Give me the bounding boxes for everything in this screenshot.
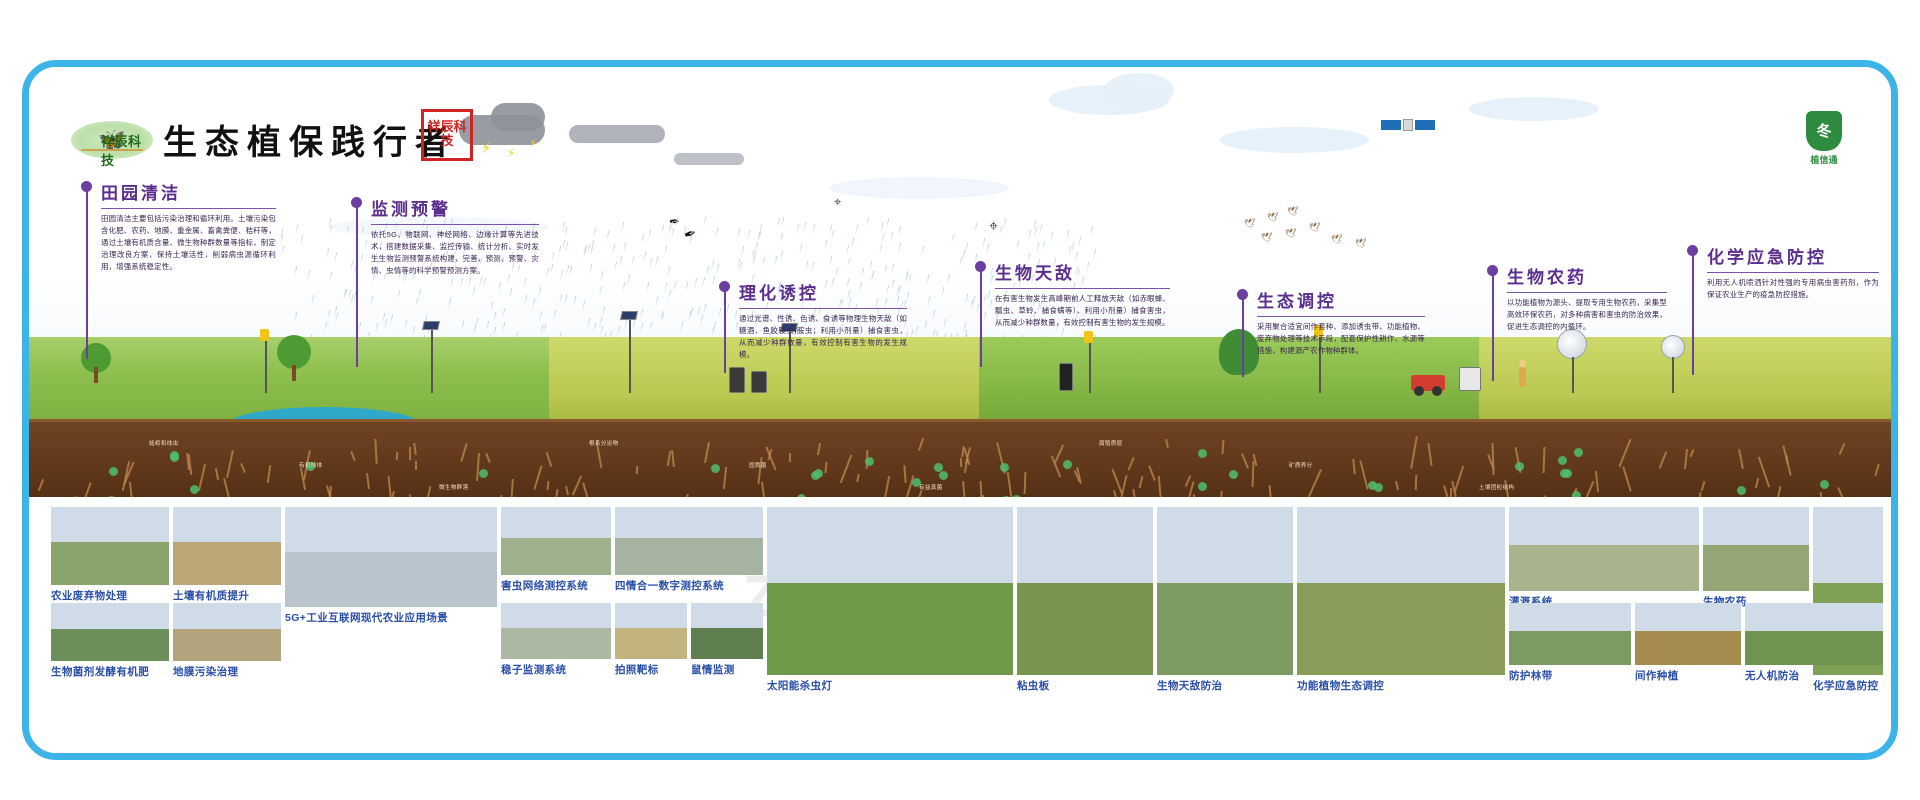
soil-label: 腐殖质层 xyxy=(1099,439,1123,447)
soil-label: 矿质养分 xyxy=(1289,461,1313,469)
goose-icon: 🕊 xyxy=(1267,213,1278,222)
photo-sky xyxy=(615,603,687,628)
gallery-photo[interactable] xyxy=(51,603,169,661)
photo-sky xyxy=(1509,507,1699,545)
tractor-icon xyxy=(1411,375,1445,391)
cloud-puff xyxy=(1469,97,1599,121)
topic-stem-line xyxy=(1242,299,1244,377)
satellite-wing xyxy=(1381,120,1401,130)
gallery-photo[interactable] xyxy=(1509,507,1699,591)
topic-body: 依托5G、物联网、神经网络、边缘计算等先进技术，搭建数据采集、监控传输、统计分析… xyxy=(371,229,539,277)
lightning-bolt-icon: ⚡ xyxy=(481,141,492,156)
farmer-figure xyxy=(1519,367,1526,387)
poster-frame-inner: ⚡ ⚡ ⚡ ✒ ✒ 🕊 🕊 🕊 🕊 🕊 🕊 🕊 🕊 ⌖ ⌖ xyxy=(29,67,1891,753)
equipment-pole xyxy=(431,327,433,393)
photo-land xyxy=(501,628,611,659)
monitor-cabinet-icon xyxy=(729,367,745,393)
photo-sky xyxy=(173,603,281,629)
photo-sky xyxy=(51,603,169,629)
gallery-caption: 农业废弃物处理 xyxy=(51,588,127,603)
photo-land xyxy=(51,542,169,585)
gallery-photo[interactable] xyxy=(285,507,497,607)
gallery-photo[interactable] xyxy=(1297,507,1505,675)
photo-sky xyxy=(1297,507,1505,583)
storm-cloud-icon xyxy=(491,103,545,131)
brand-name-cn: 祥辰科技 xyxy=(101,131,153,169)
conifer-tree-icon xyxy=(1219,329,1259,375)
photo-sky xyxy=(615,507,763,538)
topic-tianyuan-qingjie[interactable]: 田园清洁 田园清洁主要包括污染治理和循环利用。土壤污染包含化肥、农药、地膜、重金… xyxy=(101,179,276,273)
gallery-caption: 间作种植 xyxy=(1635,668,1679,683)
photo-sky xyxy=(501,507,611,538)
soil-label: 土壤团粒结构 xyxy=(1479,483,1514,491)
equipment-pole xyxy=(265,333,267,393)
soil-label: 微生物群落 xyxy=(439,483,468,491)
gallery-caption: 生物天敌防治 xyxy=(1157,678,1222,693)
photo-land xyxy=(1509,631,1631,665)
corner-brand-logo: 冬 植信通 xyxy=(1797,111,1851,166)
photo-land xyxy=(615,538,763,575)
photo-sky xyxy=(767,507,1013,583)
equipment-pole xyxy=(1089,335,1091,393)
topic-title: 生态调控 xyxy=(1257,287,1425,312)
gallery-caption: 地膜污染治理 xyxy=(173,664,238,679)
tree-icon xyxy=(277,335,311,369)
topic-shengwu-tiandi[interactable]: 生物天敌 在有害生物发生高峰期前人工释放天敌（如赤眼蜂、瓢虫、草蛉、捕食螨等）、… xyxy=(995,259,1170,329)
red-seal-stamp: 祥辰科技 xyxy=(421,109,473,161)
gallery-photo[interactable] xyxy=(1745,603,1883,665)
tree-trunk xyxy=(292,365,296,381)
photo-sky xyxy=(285,507,497,552)
topic-title: 理化诱控 xyxy=(739,279,907,304)
storm-cloud-icon xyxy=(674,153,744,165)
gallery-caption: 化学应急防控 xyxy=(1813,678,1878,693)
drone-icon: ⌖ xyxy=(989,219,998,235)
topic-shengwu-nongyao[interactable]: 生物农药 以功能植物为源头、提取专用生物农药，采集型高效环保农药，对多种病害和害… xyxy=(1507,263,1667,333)
photo-land xyxy=(1509,545,1699,591)
photo-sky xyxy=(1509,603,1631,631)
lightning-bolt-icon: ⚡ xyxy=(529,139,537,150)
gallery-photo[interactable] xyxy=(767,507,1013,675)
soil-label: 蚯蚓和线虫 xyxy=(149,439,178,447)
gallery-caption: 生物菌剂发酵有机肥 xyxy=(51,664,149,679)
photo-land xyxy=(615,628,687,659)
photo-gallery: ZCU 农业废弃物处理土壤有机质提升5G+工业互联网现代农业应用场景害虫网络测控… xyxy=(43,503,1877,743)
gallery-photo[interactable] xyxy=(173,507,281,585)
topic-rule xyxy=(1257,316,1425,317)
solar-panel-icon xyxy=(620,311,638,320)
photo-sky xyxy=(1813,507,1883,583)
goose-icon: 🕊 xyxy=(1285,229,1296,238)
tractor-wheel xyxy=(1432,386,1442,396)
photo-land xyxy=(1157,583,1293,675)
gallery-photo[interactable] xyxy=(1635,603,1741,665)
topic-stem-line xyxy=(86,191,88,359)
tree-trunk xyxy=(94,367,98,383)
soil-label: 固氮菌 xyxy=(749,461,767,469)
photo-land xyxy=(51,629,169,661)
page-title: 生态植保践行者 xyxy=(163,115,457,164)
gallery-photo[interactable] xyxy=(1703,507,1809,591)
photo-sky xyxy=(1017,507,1153,583)
topic-huaxue-yingji-fangkong[interactable]: 化学应急防控 利用无人机喷洒针对性强的专用病虫害药剂，作为保证农业生产的疫急防控… xyxy=(1707,243,1879,301)
topic-rule xyxy=(371,224,539,225)
insect-lamp-icon xyxy=(1084,331,1093,343)
topic-title: 化学应急防控 xyxy=(1707,243,1879,268)
drone-icon: ⌖ xyxy=(834,195,841,208)
photo-sky xyxy=(1157,507,1293,583)
corner-brand-label: 植信通 xyxy=(1797,153,1851,166)
solar-panel-icon xyxy=(422,321,440,330)
monitor-cabinet-icon xyxy=(751,371,767,393)
topic-title: 田园清洁 xyxy=(101,179,276,204)
photo-land xyxy=(1703,545,1809,591)
topic-title: 监测预警 xyxy=(371,195,539,220)
photo-land xyxy=(173,629,281,661)
gallery-caption: 鼠情监测 xyxy=(691,662,735,677)
lightning-bolt-icon: ⚡ xyxy=(507,147,515,159)
equipment-pole xyxy=(1672,357,1674,393)
topic-shengtai-tiaokong[interactable]: 生态调控 采用聚合适宜间作套种、添加诱虫带、功能植物、废弃物处理等技术手段，配套… xyxy=(1257,287,1425,357)
gallery-caption: 无人机防治 xyxy=(1745,668,1800,683)
goose-icon: 🕊 xyxy=(1244,219,1255,228)
gallery-photo[interactable] xyxy=(615,603,687,659)
gallery-caption: 太阳能杀虫灯 xyxy=(767,678,832,693)
gallery-photo[interactable] xyxy=(501,603,611,659)
photo-land xyxy=(1297,583,1505,675)
gallery-photo[interactable] xyxy=(1509,603,1631,665)
photo-sky xyxy=(51,507,169,542)
photo-sky xyxy=(1745,603,1883,631)
topic-body: 利用无人机喷洒针对性强的专用病虫害药剂，作为保证农业生产的疫急防控措施。 xyxy=(1707,277,1879,301)
gallery-photo[interactable] xyxy=(1017,507,1153,675)
satellite-wing xyxy=(1415,120,1435,130)
topic-rule xyxy=(101,208,276,209)
gallery-photo[interactable] xyxy=(501,507,611,575)
topic-title: 生物天敌 xyxy=(995,259,1170,284)
photo-sky xyxy=(691,603,763,628)
gallery-caption: 防护林带 xyxy=(1509,668,1553,683)
topic-rule xyxy=(1707,272,1879,273)
photo-sky xyxy=(1635,603,1741,631)
topic-stem-line xyxy=(1692,255,1694,375)
photo-land xyxy=(285,552,497,607)
soil-label: 有机残体 xyxy=(299,461,323,469)
topic-jiance-yujing[interactable]: 监测预警 依托5G、物联网、神经网络、边缘计算等先进技术，搭建数据采集、监控传输… xyxy=(371,195,539,277)
goose-icon: 🕊 xyxy=(1331,235,1342,244)
gallery-caption: 5G+工业互联网现代农业应用场景 xyxy=(285,610,448,625)
gallery-caption: 稳子监测系统 xyxy=(501,662,566,677)
gallery-caption: 功能植物生态调控 xyxy=(1297,678,1384,693)
topic-body: 以功能植物为源头、提取专用生物农药，采集型高效环保农药，对多种病害和害虫的防治效… xyxy=(1507,297,1667,333)
gallery-photo[interactable] xyxy=(51,507,169,585)
storm-cloud-icon xyxy=(569,125,665,143)
poster-root: ⚡ ⚡ ⚡ ✒ ✒ 🕊 🕊 🕊 🕊 🕊 🕊 🕊 🕊 ⌖ ⌖ xyxy=(0,0,1920,800)
gallery-caption: 土壤有机质提升 xyxy=(173,588,249,603)
goose-icon: 🕊 xyxy=(1309,223,1320,232)
topic-rule xyxy=(739,308,907,309)
topic-stem-line xyxy=(724,291,726,373)
equipment-pole xyxy=(1572,357,1574,393)
topic-body: 田园清洁主要包括污染治理和循环利用。土壤污染包含化肥、农药、地膜、重金属、畜禽粪… xyxy=(101,213,276,273)
satellite-body xyxy=(1403,119,1413,131)
gallery-caption: 害虫网络测控系统 xyxy=(501,578,588,593)
cloud-puff xyxy=(829,177,1009,199)
photo-land xyxy=(1745,631,1883,665)
radar-dish-icon xyxy=(1557,329,1587,359)
photo-land xyxy=(691,628,763,659)
topic-stem-line xyxy=(356,207,358,367)
topic-lihua-youkong[interactable]: 理化诱控 通过光谱、性诱、色诱、食诱等物理生物天敌（如糖酒、鱼胶胺虫)胺虫；利用… xyxy=(739,279,907,361)
photo-land xyxy=(501,538,611,575)
shield-icon: 冬 xyxy=(1806,111,1842,151)
photo-land xyxy=(1017,583,1153,675)
photo-sky xyxy=(1703,507,1809,545)
topic-stem-line xyxy=(980,271,982,367)
topic-body: 通过光谱、性诱、色诱、食诱等物理生物天敌（如糖酒、鱼胶胺虫)胺虫；利用小剂量）捕… xyxy=(739,313,907,361)
monitor-cabinet-icon xyxy=(1059,363,1073,391)
robot-unit-icon xyxy=(1459,367,1481,391)
gallery-photo[interactable] xyxy=(615,507,763,575)
tractor-wheel xyxy=(1414,386,1424,396)
goose-icon: 🕊 xyxy=(1355,239,1366,248)
goose-icon: 🕊 xyxy=(1261,233,1272,242)
satellite-icon xyxy=(1381,119,1435,131)
radar-dish-icon xyxy=(1661,335,1685,359)
equipment-pole xyxy=(629,317,631,393)
cloud-puff xyxy=(1219,127,1369,153)
topic-rule xyxy=(995,288,1170,289)
insect-lamp-icon xyxy=(260,329,269,341)
topic-rule xyxy=(1507,292,1667,293)
gallery-photo[interactable] xyxy=(1157,507,1293,675)
topic-stem-line xyxy=(1492,275,1494,381)
brand-logo-block: 🦋 祥辰科技 生态植保践行者 xyxy=(71,115,457,164)
poster-frame: ⚡ ⚡ ⚡ ✒ ✒ 🕊 🕊 🕊 🕊 🕊 🕊 🕊 🕊 ⌖ ⌖ xyxy=(22,60,1898,760)
soil-label: 根系分泌物 xyxy=(589,439,618,447)
cloud-puff xyxy=(1104,73,1174,107)
photo-land xyxy=(1635,631,1741,665)
photo-sky xyxy=(173,507,281,542)
farmer-head xyxy=(1519,360,1526,367)
photo-land xyxy=(173,542,281,585)
gallery-photo[interactable] xyxy=(691,603,763,659)
topic-body: 采用聚合适宜间作套种、添加诱虫带、功能植物、废弃物处理等技术手段，配套保护性耕作… xyxy=(1257,321,1425,357)
gallery-caption: 四情合一数字测控系统 xyxy=(615,578,724,593)
photo-sky xyxy=(501,603,611,628)
gallery-caption: 粘虫板 xyxy=(1017,678,1050,693)
topic-body: 在有害生物发生高峰期前人工释放天敌（如赤眼蜂、瓢虫、草蛉、捕食螨等）、利用小剂量… xyxy=(995,293,1170,329)
goose-icon: 🕊 xyxy=(1287,207,1298,216)
gallery-photo[interactable] xyxy=(173,603,281,661)
topic-title: 生物农药 xyxy=(1507,263,1667,288)
soil-label: 有益真菌 xyxy=(919,483,943,491)
brand-logo-badge: 🦋 祥辰科技 xyxy=(71,121,153,159)
gallery-caption: 拍照靶标 xyxy=(615,662,659,677)
photo-land xyxy=(767,583,1013,675)
